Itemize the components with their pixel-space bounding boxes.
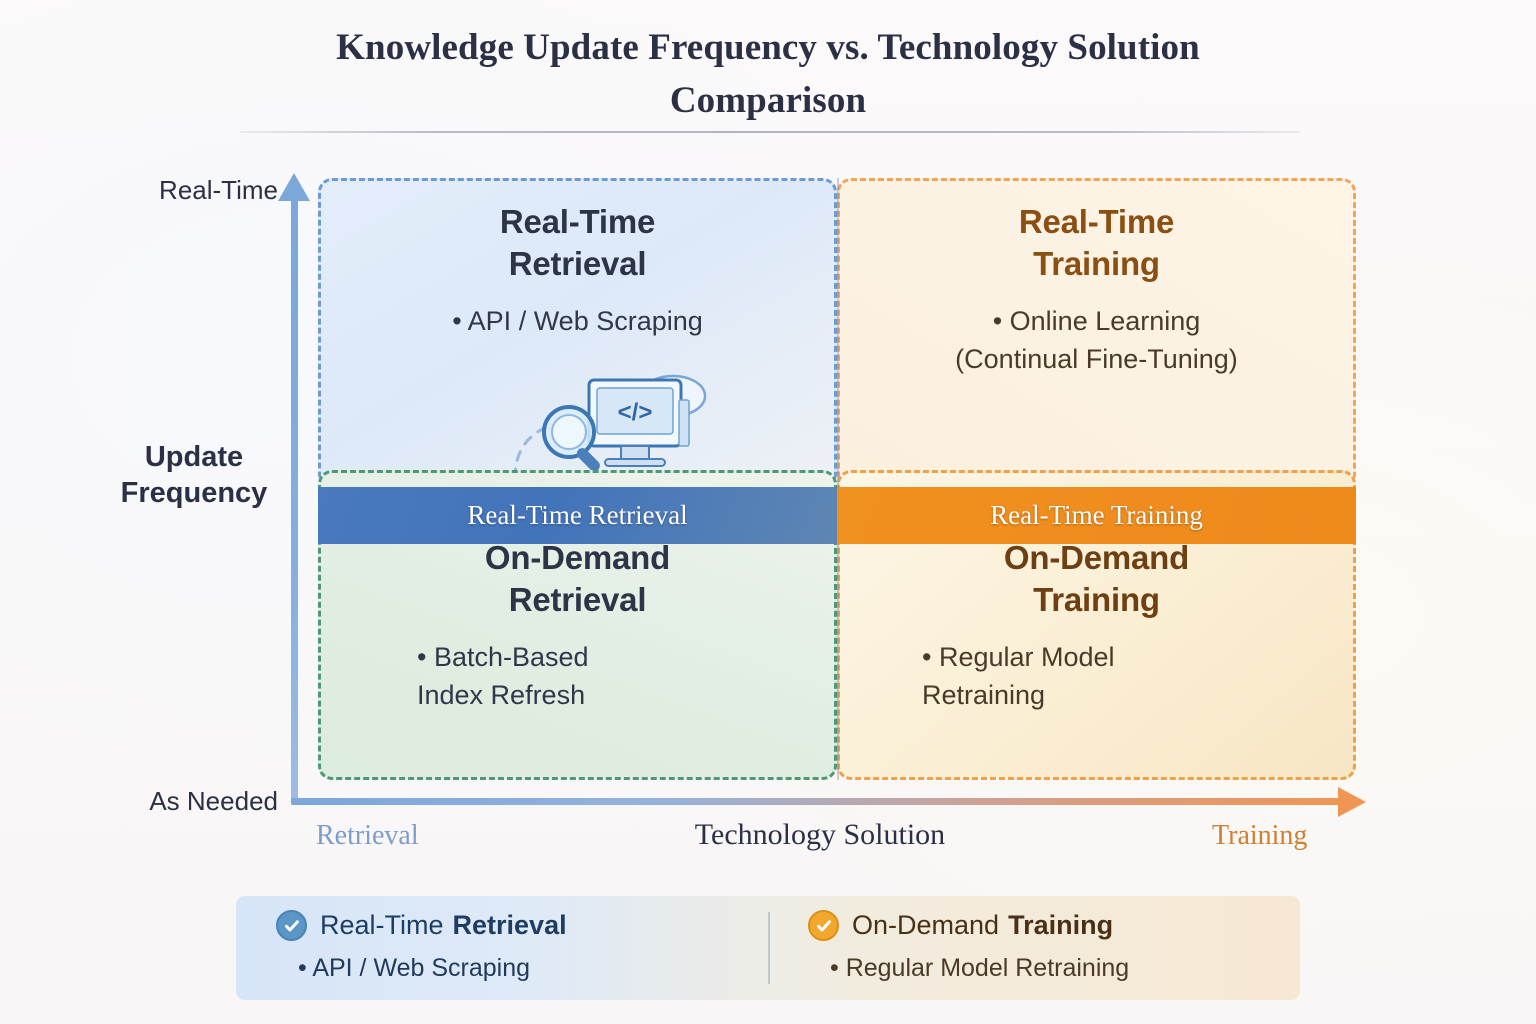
- quadrant-bl-title: On-Demand Retrieval: [343, 537, 812, 620]
- x-axis-arrow-icon: [1338, 787, 1366, 817]
- y-axis-arrow-icon: [278, 173, 310, 201]
- legend-item-retrieval[interactable]: Real-Time Retrieval • API / Web Scraping: [236, 896, 768, 1000]
- page-title: Knowledge Update Frequency vs. Technolog…: [268, 22, 1268, 127]
- check-circle-icon: [276, 910, 307, 941]
- legend-right-subtitle: • Regular Model Retraining: [808, 954, 1300, 983]
- title-block: Knowledge Update Frequency vs. Technolog…: [0, 22, 1536, 127]
- x-axis-right-label: Training: [1212, 820, 1307, 852]
- quadrant-tr-title-line2: Training: [862, 243, 1331, 285]
- quadrant-tr-content: Real-Time Training • Online Learning (Co…: [840, 181, 1353, 485]
- y-axis-bottom-label: As Needed: [149, 786, 278, 817]
- quadrant-tr-title: Real-Time Training: [862, 201, 1331, 284]
- quadrant-tr-bullet-1: • Online Learning: [862, 302, 1331, 340]
- quadrant-tl-title-line2: Retrieval: [343, 243, 812, 285]
- band-left-label: Real-Time Retrieval: [467, 500, 687, 531]
- quadrant-matrix: Real-Time Retrieval • API / Web Scraping…: [318, 178, 1356, 780]
- quadrant-real-time-training[interactable]: Real-Time Training • Online Learning (Co…: [837, 178, 1356, 488]
- quadrant-br-title: On-Demand Training: [862, 537, 1331, 620]
- quadrant-bl-bullet-2: Index Refresh: [417, 676, 812, 714]
- quadrant-bl-title-line2: Retrieval: [343, 579, 812, 621]
- title-divider: [240, 131, 1300, 133]
- quadrant-center-divider: [837, 178, 839, 780]
- x-axis-line: [291, 798, 1341, 805]
- x-axis-title: Technology Solution: [560, 818, 1080, 852]
- band-right-label: Real-Time Training: [990, 500, 1203, 531]
- quadrant-bl-bullet-1: • Batch-Based: [417, 638, 812, 676]
- center-band-row: Real-Time Retrieval Real-Time Training: [318, 487, 1356, 544]
- legend-left-title-regular: Real-Time: [320, 912, 444, 939]
- y-axis-title-line1: Update: [104, 440, 284, 476]
- quadrant-tr-bullets: • Online Learning (Continual Fine-Tuning…: [862, 302, 1331, 379]
- check-circle-icon: [808, 910, 839, 941]
- legend-right-heading: On-Demand Training: [808, 910, 1300, 941]
- quadrant-tl-bullets: • API / Web Scraping: [343, 302, 812, 340]
- quadrant-tr-bullet-2: (Continual Fine-Tuning): [862, 340, 1331, 378]
- quadrant-bl-bullets: • Batch-Based Index Refresh: [343, 638, 812, 715]
- band-real-time-training[interactable]: Real-Time Training: [837, 487, 1356, 544]
- legend-left-subtitle: • API / Web Scraping: [276, 954, 768, 983]
- quadrant-br-title-line2: Training: [862, 579, 1331, 621]
- quadrant-br-bullets: • Regular Model Retraining: [862, 638, 1331, 715]
- legend: Real-Time Retrieval • API / Web Scraping…: [236, 896, 1300, 1000]
- quadrant-tl-bullet-1: • API / Web Scraping: [343, 302, 812, 340]
- legend-item-training[interactable]: On-Demand Training • Regular Model Retra…: [768, 896, 1300, 1000]
- quadrant-br-bullet-1: • Regular Model: [922, 638, 1331, 676]
- quadrant-tr-title-line1: Real-Time: [862, 201, 1331, 243]
- legend-left-heading: Real-Time Retrieval: [276, 910, 768, 941]
- svg-text:</>: </>: [618, 399, 653, 426]
- y-axis-top-label: Real-Time: [159, 175, 278, 206]
- y-axis-title-line2: Frequency: [104, 476, 284, 512]
- quadrant-tl-title: Real-Time Retrieval: [343, 201, 812, 284]
- legend-left-title-bold: Retrieval: [453, 912, 567, 939]
- x-axis-left-label: Retrieval: [316, 820, 419, 852]
- quadrant-real-time-retrieval[interactable]: Real-Time Retrieval • API / Web Scraping…: [318, 178, 837, 488]
- quadrant-br-bullet-2: Retraining: [922, 676, 1331, 714]
- diagram-canvas: Knowledge Update Frequency vs. Technolog…: [0, 0, 1536, 1024]
- y-axis-title: Update Frequency: [104, 440, 284, 511]
- legend-right-title-bold: Training: [1008, 912, 1113, 939]
- legend-right-title-regular: On-Demand: [852, 912, 999, 939]
- band-real-time-retrieval[interactable]: Real-Time Retrieval: [318, 487, 837, 544]
- y-axis-line: [291, 198, 298, 804]
- quadrant-tl-title-line1: Real-Time: [343, 201, 812, 243]
